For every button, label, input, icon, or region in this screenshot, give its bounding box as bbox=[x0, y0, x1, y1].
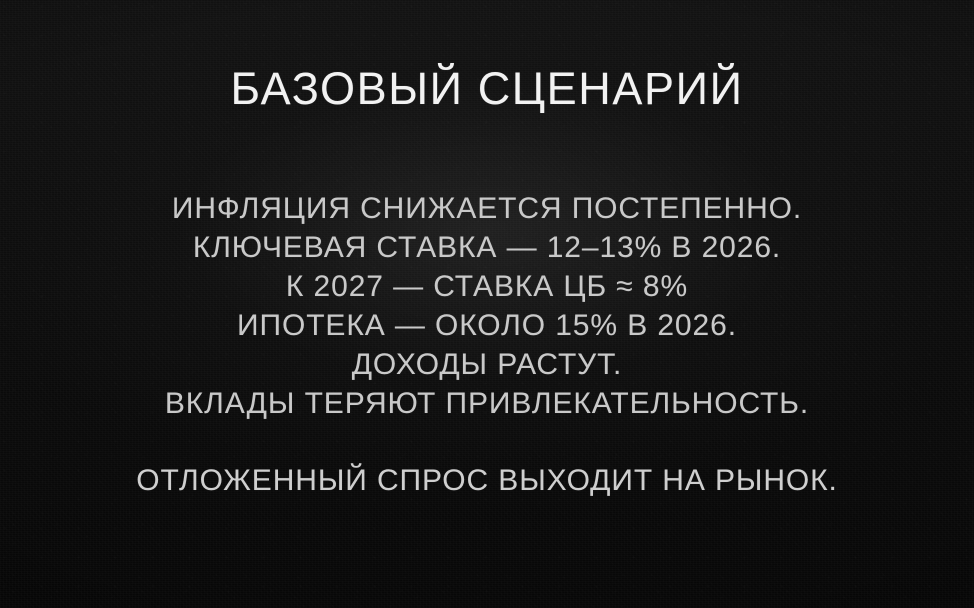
body-line-deposits: ВКЛАДЫ ТЕРЯЮТ ПРИВЛЕКАТЕЛЬНОСТЬ. bbox=[165, 384, 809, 423]
body-text-block: ИНФЛЯЦИЯ СНИЖАЕТСЯ ПОСТЕПЕННО. КЛЮЧЕВАЯ … bbox=[136, 189, 838, 500]
page-title: БАЗОВЫЙ СЦЕНАРИЙ bbox=[230, 64, 743, 114]
closing-line-deferred-demand: ОТЛОЖЕННЫЙ СПРОС ВЫХОДИТ НА РЫНОК. bbox=[136, 461, 838, 500]
body-line-inflation: ИНФЛЯЦИЯ СНИЖАЕТСЯ ПОСТЕПЕННО. bbox=[172, 189, 802, 228]
body-line-key-rate: КЛЮЧЕВАЯ СТАВКА — 12–13% В 2026. bbox=[193, 228, 781, 267]
presentation-slide: БАЗОВЫЙ СЦЕНАРИЙ ИНФЛЯЦИЯ СНИЖАЕТСЯ ПОСТ… bbox=[0, 0, 974, 608]
body-line-incomes: ДОХОДЫ РАСТУТ. bbox=[352, 345, 623, 384]
slide-content: БАЗОВЫЙ СЦЕНАРИЙ ИНФЛЯЦИЯ СНИЖАЕТСЯ ПОСТ… bbox=[0, 0, 974, 608]
body-line-cb-rate-2027: К 2027 — СТАВКА ЦБ ≈ 8% bbox=[286, 267, 688, 306]
body-line-mortgage: ИПОТЕКА — ОКОЛО 15% В 2026. bbox=[237, 306, 737, 345]
